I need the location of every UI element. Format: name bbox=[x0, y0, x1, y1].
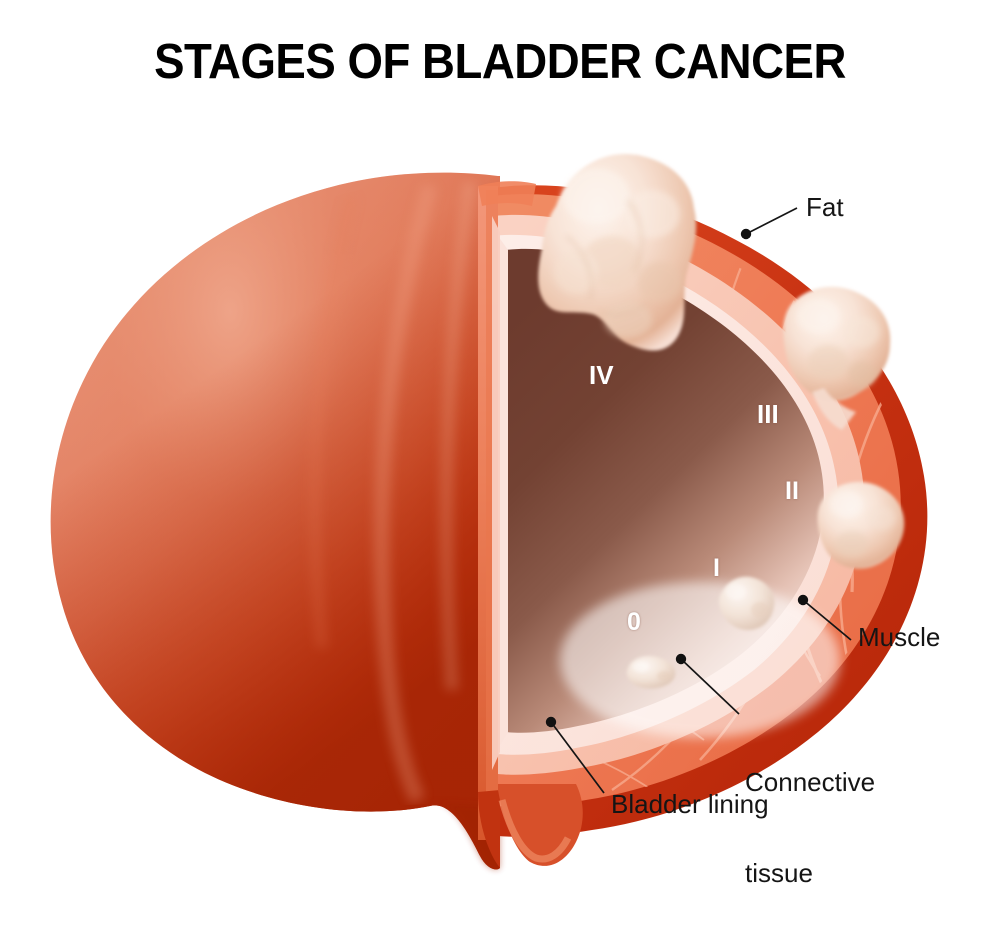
stage-label-i: I bbox=[713, 554, 720, 583]
stage-label-0: 0 bbox=[627, 608, 641, 637]
callout-label-fat: Fat bbox=[806, 192, 844, 222]
callout-label-bladder-lining: Bladder lining bbox=[611, 789, 769, 819]
bladder-cancer-figure: STAGES OF BLADDER CANCER bbox=[0, 0, 1000, 897]
stage-label-iii: III bbox=[757, 399, 779, 430]
callout-label-muscle: Muscle bbox=[858, 622, 940, 652]
stage-label-iv: IV bbox=[589, 360, 614, 391]
leader-fat bbox=[741, 208, 797, 239]
callout-label-connective-tissue: Connective tissue bbox=[745, 707, 875, 948]
callout-line-tissue: tissue bbox=[745, 858, 875, 888]
stage-label-ii: II bbox=[785, 477, 799, 506]
bladder-outer-body bbox=[51, 173, 500, 870]
